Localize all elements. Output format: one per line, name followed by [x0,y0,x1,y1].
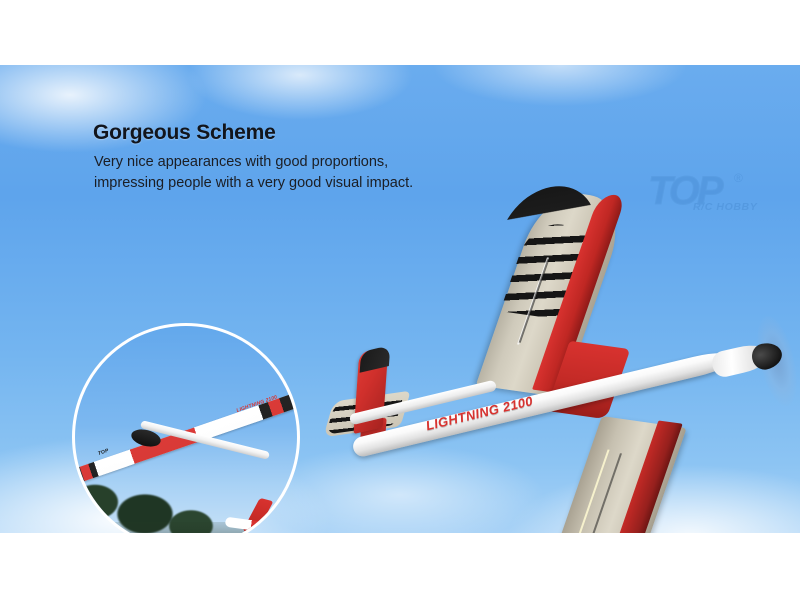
description-line-2: impressing people with a very good visua… [94,173,413,194]
description-text: Very nice appearances with good proporti… [94,152,413,194]
inset-flight-photo: TOP LIGHTNING 2100 [72,323,300,533]
main-aircraft-photo: LIGHTNING 2100 [320,165,790,533]
product-banner: TOP ® R/C HOBBY TOP LIGHTNING 2100 [0,0,800,600]
description-line-1: Very nice appearances with good proporti… [94,152,413,173]
page-title: Gorgeous Scheme [93,121,276,145]
upper-wingtip-black-trim [500,180,610,249]
